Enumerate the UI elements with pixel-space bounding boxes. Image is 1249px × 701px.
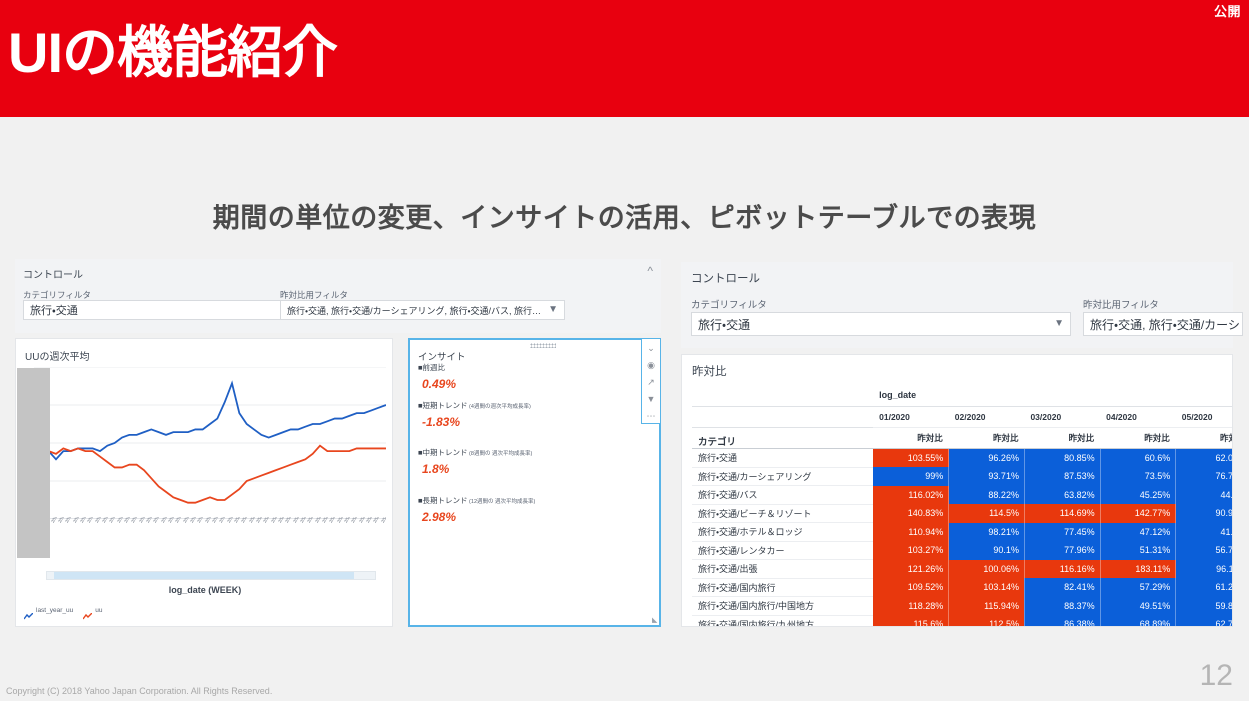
pivot-table-body: 旅行・交通103.55%96.26%80.85%60.6%62.03%旅行・交通… (692, 449, 1233, 628)
pivot-row-category: 旅行・交通/国内旅行/九州地方 (692, 615, 873, 627)
insight-metric-label: ■前週比 (418, 362, 456, 373)
chevron-down-icon: ▼ (1048, 319, 1070, 329)
insight-metric: ■前週比0.49% (418, 362, 456, 391)
pivot-row-category: 旅行・交通/ホテル＆ロッジ (692, 523, 873, 542)
right-yoy-filter-label: 昨対比用フィルタ (1083, 297, 1159, 311)
pivot-row-category: 旅行・交通/出張 (692, 560, 873, 579)
pivot-cell-value[interactable]: 114.5% (949, 504, 1025, 523)
resize-handle-icon[interactable]: ◢ (652, 616, 657, 624)
pin-icon[interactable]: ◉ (644, 359, 658, 371)
right-yoy-filter-value: 旅行・交通, 旅行・交通/カーシ (1084, 316, 1240, 333)
pivot-cell-value[interactable]: 77.96% (1024, 541, 1100, 560)
pivot-cell-value[interactable]: 62.72% (1176, 615, 1233, 627)
pivot-cell-value[interactable]: 99% (873, 467, 949, 486)
pivot-cell-value[interactable]: 88.22% (949, 486, 1025, 505)
table-row[interactable]: 旅行・交通/国内旅行109.52%103.14%82.41%57.29%61.2… (692, 578, 1233, 597)
pivot-cell-value[interactable]: 44.5% (1176, 486, 1233, 505)
pivot-metric-header: 昨対比 (873, 428, 949, 449)
pivot-cell-value[interactable]: 56.77% (1176, 541, 1233, 560)
legend-item[interactable]: last_year_uu (24, 607, 73, 614)
chart-x-axis-label: log_date (WEEK) (16, 585, 394, 595)
insight-toolbar: ⌄ ◉ ↗ ▼ ⋯ (641, 338, 661, 424)
page-number: 12 (1200, 659, 1233, 693)
pivot-cell-value[interactable]: 68.89% (1100, 615, 1176, 627)
pivot-cell-value[interactable]: 109.52% (873, 578, 949, 597)
pivot-row-header-label: カテゴリ (692, 428, 873, 449)
uu-weekly-average-chart-card: UUの週次平均 2019/06/302019/07/072019/07/1420… (15, 338, 393, 627)
collapse-icon[interactable]: ⌄ (644, 342, 658, 354)
left-category-filter-value: 旅行・交通 (24, 302, 78, 318)
insight-card[interactable]: インサイト ■前週比0.49%■短期トレンド (4週間の週次平均成長率)-1.8… (408, 338, 661, 627)
table-row[interactable]: 旅行・交通/レンタカー103.27%90.1%77.96%51.31%56.77… (692, 541, 1233, 560)
pivot-cell-value[interactable]: 60.6% (1100, 449, 1176, 468)
scrollbar-thumb[interactable] (54, 572, 354, 579)
pivot-cell-value[interactable]: 76.72% (1176, 467, 1233, 486)
left-category-filter-select[interactable]: 旅行・交通 ▼ (23, 300, 298, 320)
pivot-corner-blank (692, 384, 873, 407)
pivot-metric-row: カテゴリ 昨対比昨対比昨対比昨対比昨対比 (692, 428, 1233, 449)
pivot-table: log_date 01/202002/202003/202004/202005/… (692, 384, 1233, 627)
legend-line-icon (83, 607, 92, 614)
pivot-row-category: 旅行・交通/国内旅行/中国地方 (692, 597, 873, 616)
pivot-cell-value[interactable]: 103.27% (873, 541, 949, 560)
right-yoy-filter-select[interactable]: 旅行・交通, 旅行・交通/カーシ (1083, 312, 1243, 336)
chart-selection-mask (17, 368, 50, 558)
left-control-title: コントロール (23, 266, 83, 281)
table-row[interactable]: 旅行・交通/ホテル＆ロッジ110.94%98.21%77.45%47.12%41… (692, 523, 1233, 542)
chart-plot-area (34, 367, 386, 519)
right-category-filter-label: カテゴリフィルタ (691, 297, 767, 311)
pivot-cell-value[interactable]: 82.41% (1024, 578, 1100, 597)
chart-series-uu (34, 446, 386, 503)
pivot-cell-value[interactable]: 63.82% (1024, 486, 1100, 505)
pivot-month-header: 03/2020 (1024, 407, 1100, 428)
chart-title: UUの週次平均 (25, 348, 89, 363)
pivot-row-category: 旅行・交通/レンタカー (692, 541, 873, 560)
right-dashboard: コントロール カテゴリフィルタ 旅行・交通 ▼ 昨対比用フィルタ 旅行・交通, … (681, 262, 1233, 627)
pivot-month-header: 04/2020 (1100, 407, 1176, 428)
pivot-metric-header: 昨対比 (1100, 428, 1176, 449)
insight-metric-value: 1.8% (418, 462, 532, 476)
pivot-cell-value[interactable]: 57.29% (1100, 578, 1176, 597)
right-category-filter-value: 旅行・交通 (692, 316, 750, 333)
pivot-cell-value[interactable]: 140.83% (873, 504, 949, 523)
chevron-up-icon[interactable]: ^ (647, 264, 653, 278)
insight-metric-value: -1.83% (418, 415, 531, 429)
chevron-down-icon: ▼ (542, 305, 564, 315)
pivot-group-row: log_date (692, 384, 1233, 407)
left-control-bar: コントロール ^ カテゴリフィルタ 旅行・交通 ▼ 昨対比用フィルタ 旅行・交通… (15, 259, 661, 333)
left-yoy-filter-value: 旅行・交通, 旅行・交通/カーシェアリング, 旅行・交通/バス, 旅行・交通/ビ… (281, 304, 542, 317)
pivot-column-group-label: log_date (873, 384, 1233, 407)
legend-label: last_year_uu (36, 607, 73, 614)
pivot-cell-value[interactable]: 115.94% (949, 597, 1025, 616)
pivot-cell-value[interactable]: 93.71% (949, 467, 1025, 486)
legend-item[interactable]: uu (83, 607, 102, 614)
legend-label: uu (95, 607, 102, 614)
pivot-cell-value[interactable]: 45.25% (1100, 486, 1176, 505)
visibility-badge: 公開 (1214, 1, 1241, 20)
chart-horizontal-scrollbar[interactable] (46, 571, 376, 580)
pivot-cell-value[interactable]: 98.21% (949, 523, 1025, 542)
pivot-cell-value[interactable]: 51.31% (1100, 541, 1176, 560)
chart-x-axis-ticks: 2019/06/302019/07/072019/07/142019/07/21… (34, 517, 386, 567)
pivot-cell-value[interactable]: 49.51% (1100, 597, 1176, 616)
pivot-blank-cell (692, 407, 873, 428)
copyright-text: Copyright (C) 2018 Yahoo Japan Corporati… (6, 686, 272, 696)
pivot-cell-value[interactable]: 90.94% (1176, 504, 1233, 523)
insight-metric: ■中期トレンド (8週間の 週次平均成長率)1.8% (418, 447, 532, 476)
pivot-month-header: 05/2020 (1176, 407, 1233, 428)
pivot-cell-value[interactable]: 112.5% (949, 615, 1025, 627)
x-tick-label: 2020/05/24 (380, 517, 386, 524)
title-banner: 公開 UIの機能紹介 (0, 0, 1249, 117)
pivot-cell-value[interactable]: 59.82% (1176, 597, 1233, 616)
pivot-cell-value[interactable]: 116.02% (873, 486, 949, 505)
table-row[interactable]: 旅行・交通/ビーチ＆リゾート140.83%114.5%114.69%142.77… (692, 504, 1233, 523)
pivot-cell-value[interactable]: 77.45% (1024, 523, 1100, 542)
pivot-cell-value[interactable]: 183.11% (1100, 560, 1176, 579)
table-row[interactable]: 旅行・交通/出張121.26%100.06%116.16%183.11%96.1… (692, 560, 1233, 579)
pivot-cell-value[interactable]: 116.16% (1024, 560, 1100, 579)
pivot-row-category: 旅行・交通/バス (692, 486, 873, 505)
pivot-cell-value[interactable]: 96.11% (1176, 560, 1233, 579)
filter-icon[interactable]: ▼ (644, 394, 658, 406)
pivot-row-category: 旅行・交通/国内旅行 (692, 578, 873, 597)
pivot-cell-value[interactable]: 62.03% (1176, 449, 1233, 468)
insight-metric: ■短期トレンド (4週間の週次平均成長率)-1.83% (418, 400, 531, 429)
pivot-table-card: 昨対比 log_date 01/202002/202003/202004/202… (681, 354, 1233, 627)
chart-legend: last_year_uuuu (24, 607, 102, 614)
pivot-cell-value[interactable]: 110.94% (873, 523, 949, 542)
table-row[interactable]: 旅行・交通103.55%96.26%80.85%60.6%62.03% (692, 449, 1233, 468)
chart-svg (34, 367, 386, 519)
table-row[interactable]: 旅行・交通/カーシェアリング99%93.71%87.53%73.5%76.72% (692, 467, 1233, 486)
chart-series-last_year_uu (34, 383, 386, 459)
insight-metric-value: 0.49% (418, 377, 456, 391)
pivot-cell-value[interactable]: 90.1% (949, 541, 1025, 560)
pivot-month-header: 02/2020 (949, 407, 1025, 428)
pivot-metric-header: 昨対比 (1176, 428, 1233, 449)
pivot-cell-value[interactable]: 103.14% (949, 578, 1025, 597)
pivot-cell-value[interactable]: 41.4% (1176, 523, 1233, 542)
left-yoy-filter-select[interactable]: 旅行・交通, 旅行・交通/カーシェアリング, 旅行・交通/バス, 旅行・交通/ビ… (280, 300, 565, 320)
pivot-cell-value[interactable]: 118.28% (873, 597, 949, 616)
drag-handle-icon[interactable] (530, 343, 556, 348)
pivot-row-category: 旅行・交通/カーシェアリング (692, 467, 873, 486)
pivot-cell-value[interactable]: 73.5% (1100, 467, 1176, 486)
insight-metric-label: ■中期トレンド (8週間の 週次平均成長率) (418, 447, 532, 458)
pivot-row-category: 旅行・交通/ビーチ＆リゾート (692, 504, 873, 523)
pivot-cell-value[interactable]: 114.69% (1024, 504, 1100, 523)
insight-metric-sublabel: (4週間の週次平均成長率) (468, 404, 531, 410)
insight-metric: ■長期トレンド (12週間の 週次平均成長率)2.98% (418, 495, 535, 524)
pivot-cell-value[interactable]: 121.26% (873, 560, 949, 579)
legend-line-icon (24, 607, 33, 614)
pivot-metric-header: 昨対比 (1024, 428, 1100, 449)
slide-heading: 期間の単位の変更、インサイトの活用、ピボットテーブルでの表現 (0, 196, 1249, 235)
pivot-cell-value[interactable]: 87.53% (1024, 467, 1100, 486)
pivot-table-title: 昨対比 (692, 363, 727, 379)
pivot-cell-value[interactable]: 88.37% (1024, 597, 1100, 616)
insight-metric-sublabel: (12週間の 週次平均成長率) (468, 499, 536, 505)
pivot-cell-value[interactable]: 115.6% (873, 615, 949, 627)
pivot-cell-value[interactable]: 61.27% (1176, 578, 1233, 597)
table-row[interactable]: 旅行・交通/バス116.02%88.22%63.82%45.25%44.5% (692, 486, 1233, 505)
pivot-cell-value[interactable]: 86.38% (1024, 615, 1100, 627)
pivot-month-header: 01/2020 (873, 407, 949, 428)
right-control-bar: コントロール カテゴリフィルタ 旅行・交通 ▼ 昨対比用フィルタ 旅行・交通, … (681, 262, 1233, 348)
page-title: UIの機能紹介 (8, 24, 337, 83)
pivot-table-head: log_date 01/202002/202003/202004/202005/… (692, 384, 1233, 449)
table-row[interactable]: 旅行・交通/国内旅行/九州地方115.6%112.5%86.38%68.89%6… (692, 615, 1233, 627)
insight-metric-value: 2.98% (418, 510, 535, 524)
pivot-cell-value[interactable]: 100.06% (949, 560, 1025, 579)
pivot-row-category: 旅行・交通 (692, 449, 873, 468)
pivot-month-row: 01/202002/202003/202004/202005/2020 (692, 407, 1233, 428)
right-category-filter-select[interactable]: 旅行・交通 ▼ (691, 312, 1071, 336)
pivot-cell-value[interactable]: 103.55% (873, 449, 949, 468)
insight-metric-label: ■長期トレンド (12週間の 週次平均成長率) (418, 495, 535, 506)
pivot-cell-value[interactable]: 142.77% (1100, 504, 1176, 523)
insight-title: インサイト (418, 349, 466, 363)
expand-icon[interactable]: ↗ (644, 376, 658, 388)
pivot-cell-value[interactable]: 80.85% (1024, 449, 1100, 468)
table-row[interactable]: 旅行・交通/国内旅行/中国地方118.28%115.94%88.37%49.51… (692, 597, 1233, 616)
right-control-title: コントロール (691, 270, 760, 286)
insight-metric-label: ■短期トレンド (4週間の週次平均成長率) (418, 400, 531, 411)
pivot-cell-value[interactable]: 96.26% (949, 449, 1025, 468)
more-icon[interactable]: ⋯ (644, 411, 658, 423)
pivot-cell-value[interactable]: 47.12% (1100, 523, 1176, 542)
pivot-metric-header: 昨対比 (949, 428, 1025, 449)
left-dashboard: コントロール ^ カテゴリフィルタ 旅行・交通 ▼ 昨対比用フィルタ 旅行・交通… (15, 259, 661, 627)
insight-metric-sublabel: (8週間の 週次平均成長率) (468, 451, 533, 457)
